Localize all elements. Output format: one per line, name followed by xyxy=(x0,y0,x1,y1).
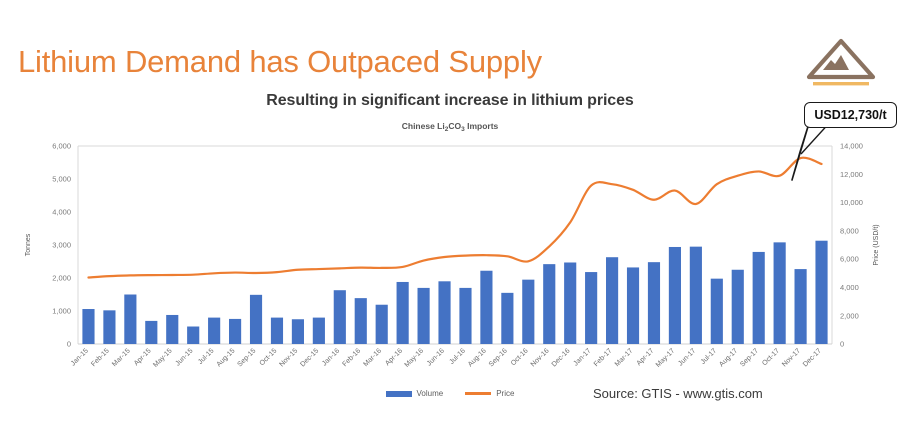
legend-item-volume: Volume xyxy=(386,389,444,398)
bar-Aug-15 xyxy=(229,319,241,344)
page-title: Lithium Demand has Outpaced Supply xyxy=(18,44,542,80)
bar-Aug-16 xyxy=(480,271,492,344)
x-axis-tick: Sep-15 xyxy=(237,347,258,368)
x-axis-tick: Feb-15 xyxy=(90,347,111,368)
y-axis-tick: 6,000 xyxy=(52,142,71,151)
x-axis-tick: Dec-16 xyxy=(551,347,572,368)
x-axis-tick: Nov-15 xyxy=(278,347,299,368)
x-axis-tick: Jul-16 xyxy=(448,347,467,366)
legend-item-price: Price xyxy=(465,389,514,398)
bar-May-17 xyxy=(669,247,681,344)
category-labels-layer: Jan-15Feb-15Mar-15Apr-15May-15Jun-15Jul-… xyxy=(70,347,823,368)
y-axis-tick: 0 xyxy=(67,340,71,349)
bar-Oct-17 xyxy=(774,242,786,344)
x-axis-tick: Jun-17 xyxy=(677,347,697,367)
bar-May-16 xyxy=(418,288,430,344)
x-axis-tick: Apr-15 xyxy=(133,347,153,367)
bar-Jan-16 xyxy=(334,290,346,344)
x-axis-tick: Sep-17 xyxy=(739,347,760,368)
mountain-logo-icon xyxy=(805,36,877,88)
y2-axis-tick: 10,000 xyxy=(840,198,863,207)
y2-axis-tick: 4,000 xyxy=(840,283,859,292)
x-axis-tick: Aug-17 xyxy=(718,347,739,368)
chart-caption: Chinese Li2CO3 Imports xyxy=(0,121,900,131)
y2-axis-tick: 12,000 xyxy=(840,170,863,179)
price-callout-label: USD12,730/t xyxy=(814,108,886,122)
bar-Feb-15 xyxy=(103,310,115,344)
x-axis-tick: Jan-15 xyxy=(70,347,90,367)
bar-Oct-16 xyxy=(522,280,534,344)
bar-Mar-17 xyxy=(627,267,639,344)
y-axis-tick: 1,000 xyxy=(52,307,71,316)
bar-Jan-17 xyxy=(585,272,597,344)
bar-Dec-15 xyxy=(313,318,325,344)
bar-Sep-15 xyxy=(250,295,262,344)
y2-axis-tick: 14,000 xyxy=(840,142,863,151)
y-axis-tick: 4,000 xyxy=(52,208,71,217)
x-axis-tick: Nov-17 xyxy=(781,347,802,368)
page-subtitle: Resulting in significant increase in lit… xyxy=(0,92,900,110)
bar-Nov-16 xyxy=(543,264,555,344)
legend-swatch-volume xyxy=(386,391,412,397)
x-axis-tick: Jan-16 xyxy=(321,347,341,367)
x-axis-tick: Dec-17 xyxy=(802,347,823,368)
y2-axis-tick: 2,000 xyxy=(840,311,859,320)
bar-Jul-16 xyxy=(459,288,471,344)
bar-Apr-17 xyxy=(648,262,660,344)
x-axis-tick: Aug-16 xyxy=(467,347,488,368)
x-axis-tick: Mar-17 xyxy=(614,347,635,368)
bar-Nov-17 xyxy=(795,269,807,344)
x-axis-tick: Jul-17 xyxy=(700,347,719,366)
bar-May-15 xyxy=(166,315,178,344)
x-axis-tick: Oct-16 xyxy=(510,347,530,367)
bar-Jun-16 xyxy=(438,281,450,344)
bar-Nov-15 xyxy=(292,319,304,344)
x-axis-tick: Jul-15 xyxy=(197,347,216,366)
x-axis-tick: Mar-15 xyxy=(111,347,132,368)
x-axis-tick: Mar-16 xyxy=(362,347,383,368)
bar-Jun-17 xyxy=(690,247,702,344)
price-callout: USD12,730/t xyxy=(804,102,897,128)
bar-Jul-17 xyxy=(711,279,723,344)
bar-Jun-15 xyxy=(187,327,199,344)
y-axis-tick: 2,000 xyxy=(52,274,71,283)
y2-axis-tick: 8,000 xyxy=(840,226,859,235)
chart-legend: Volume Price xyxy=(0,389,900,398)
y-axis-title: Tonnes xyxy=(25,233,32,256)
bar-Aug-17 xyxy=(732,270,744,344)
x-axis-tick: Jan-17 xyxy=(572,347,592,367)
x-axis-tick: Feb-17 xyxy=(593,347,614,368)
x-axis-tick: Sep-16 xyxy=(488,347,509,368)
source-note: Source: GTIS - www.gtis.com xyxy=(593,386,763,401)
x-axis-tick: Jun-15 xyxy=(175,347,195,367)
bar-Apr-16 xyxy=(397,282,409,344)
y2-axis-title: Price (USD/t) xyxy=(873,224,880,265)
legend-label-price: Price xyxy=(496,389,514,398)
x-axis-tick: Oct-17 xyxy=(761,347,781,367)
bar-Oct-15 xyxy=(271,318,283,344)
chart-svg: 01,0002,0003,0004,0005,0006,00002,0004,0… xyxy=(0,138,900,368)
bar-Dec-17 xyxy=(815,241,827,344)
x-axis-tick: Dec-15 xyxy=(299,347,320,368)
y-axis-tick: 5,000 xyxy=(52,175,71,184)
y2-axis-tick: 6,000 xyxy=(840,255,859,264)
x-axis-tick: Jun-16 xyxy=(426,347,446,367)
bar-Jul-15 xyxy=(208,318,220,344)
legend-swatch-price xyxy=(465,392,491,395)
legend-label-volume: Volume xyxy=(417,389,444,398)
price-line xyxy=(88,158,821,278)
y-axis-tick: 3,000 xyxy=(52,241,71,250)
x-axis-tick: Oct-15 xyxy=(259,347,279,367)
x-axis-tick: May-17 xyxy=(655,347,677,368)
callout-pointer-icon xyxy=(770,118,840,188)
bar-Dec-16 xyxy=(564,262,576,344)
bar-Feb-16 xyxy=(355,298,367,344)
chart-plot-area: 01,0002,0003,0004,0005,0006,00002,0004,0… xyxy=(0,138,900,368)
bar-Jan-15 xyxy=(82,309,94,344)
x-axis-tick: Apr-17 xyxy=(636,347,656,367)
x-axis-tick: Apr-16 xyxy=(384,347,404,367)
bar-Mar-16 xyxy=(376,305,388,344)
x-axis-tick: Nov-16 xyxy=(530,347,551,368)
x-axis-tick: May-15 xyxy=(152,347,174,368)
x-axis-tick: May-16 xyxy=(404,347,426,368)
x-axis-tick: Aug-15 xyxy=(216,347,237,368)
price-line-layer xyxy=(88,158,821,278)
bar-Sep-16 xyxy=(501,293,513,344)
y2-axis-tick: 0 xyxy=(840,340,844,349)
bar-Sep-17 xyxy=(753,252,765,344)
bar-Feb-17 xyxy=(606,257,618,344)
bar-Mar-15 xyxy=(124,295,136,345)
x-axis-tick: Feb-16 xyxy=(342,347,363,368)
bar-Apr-15 xyxy=(145,321,157,344)
